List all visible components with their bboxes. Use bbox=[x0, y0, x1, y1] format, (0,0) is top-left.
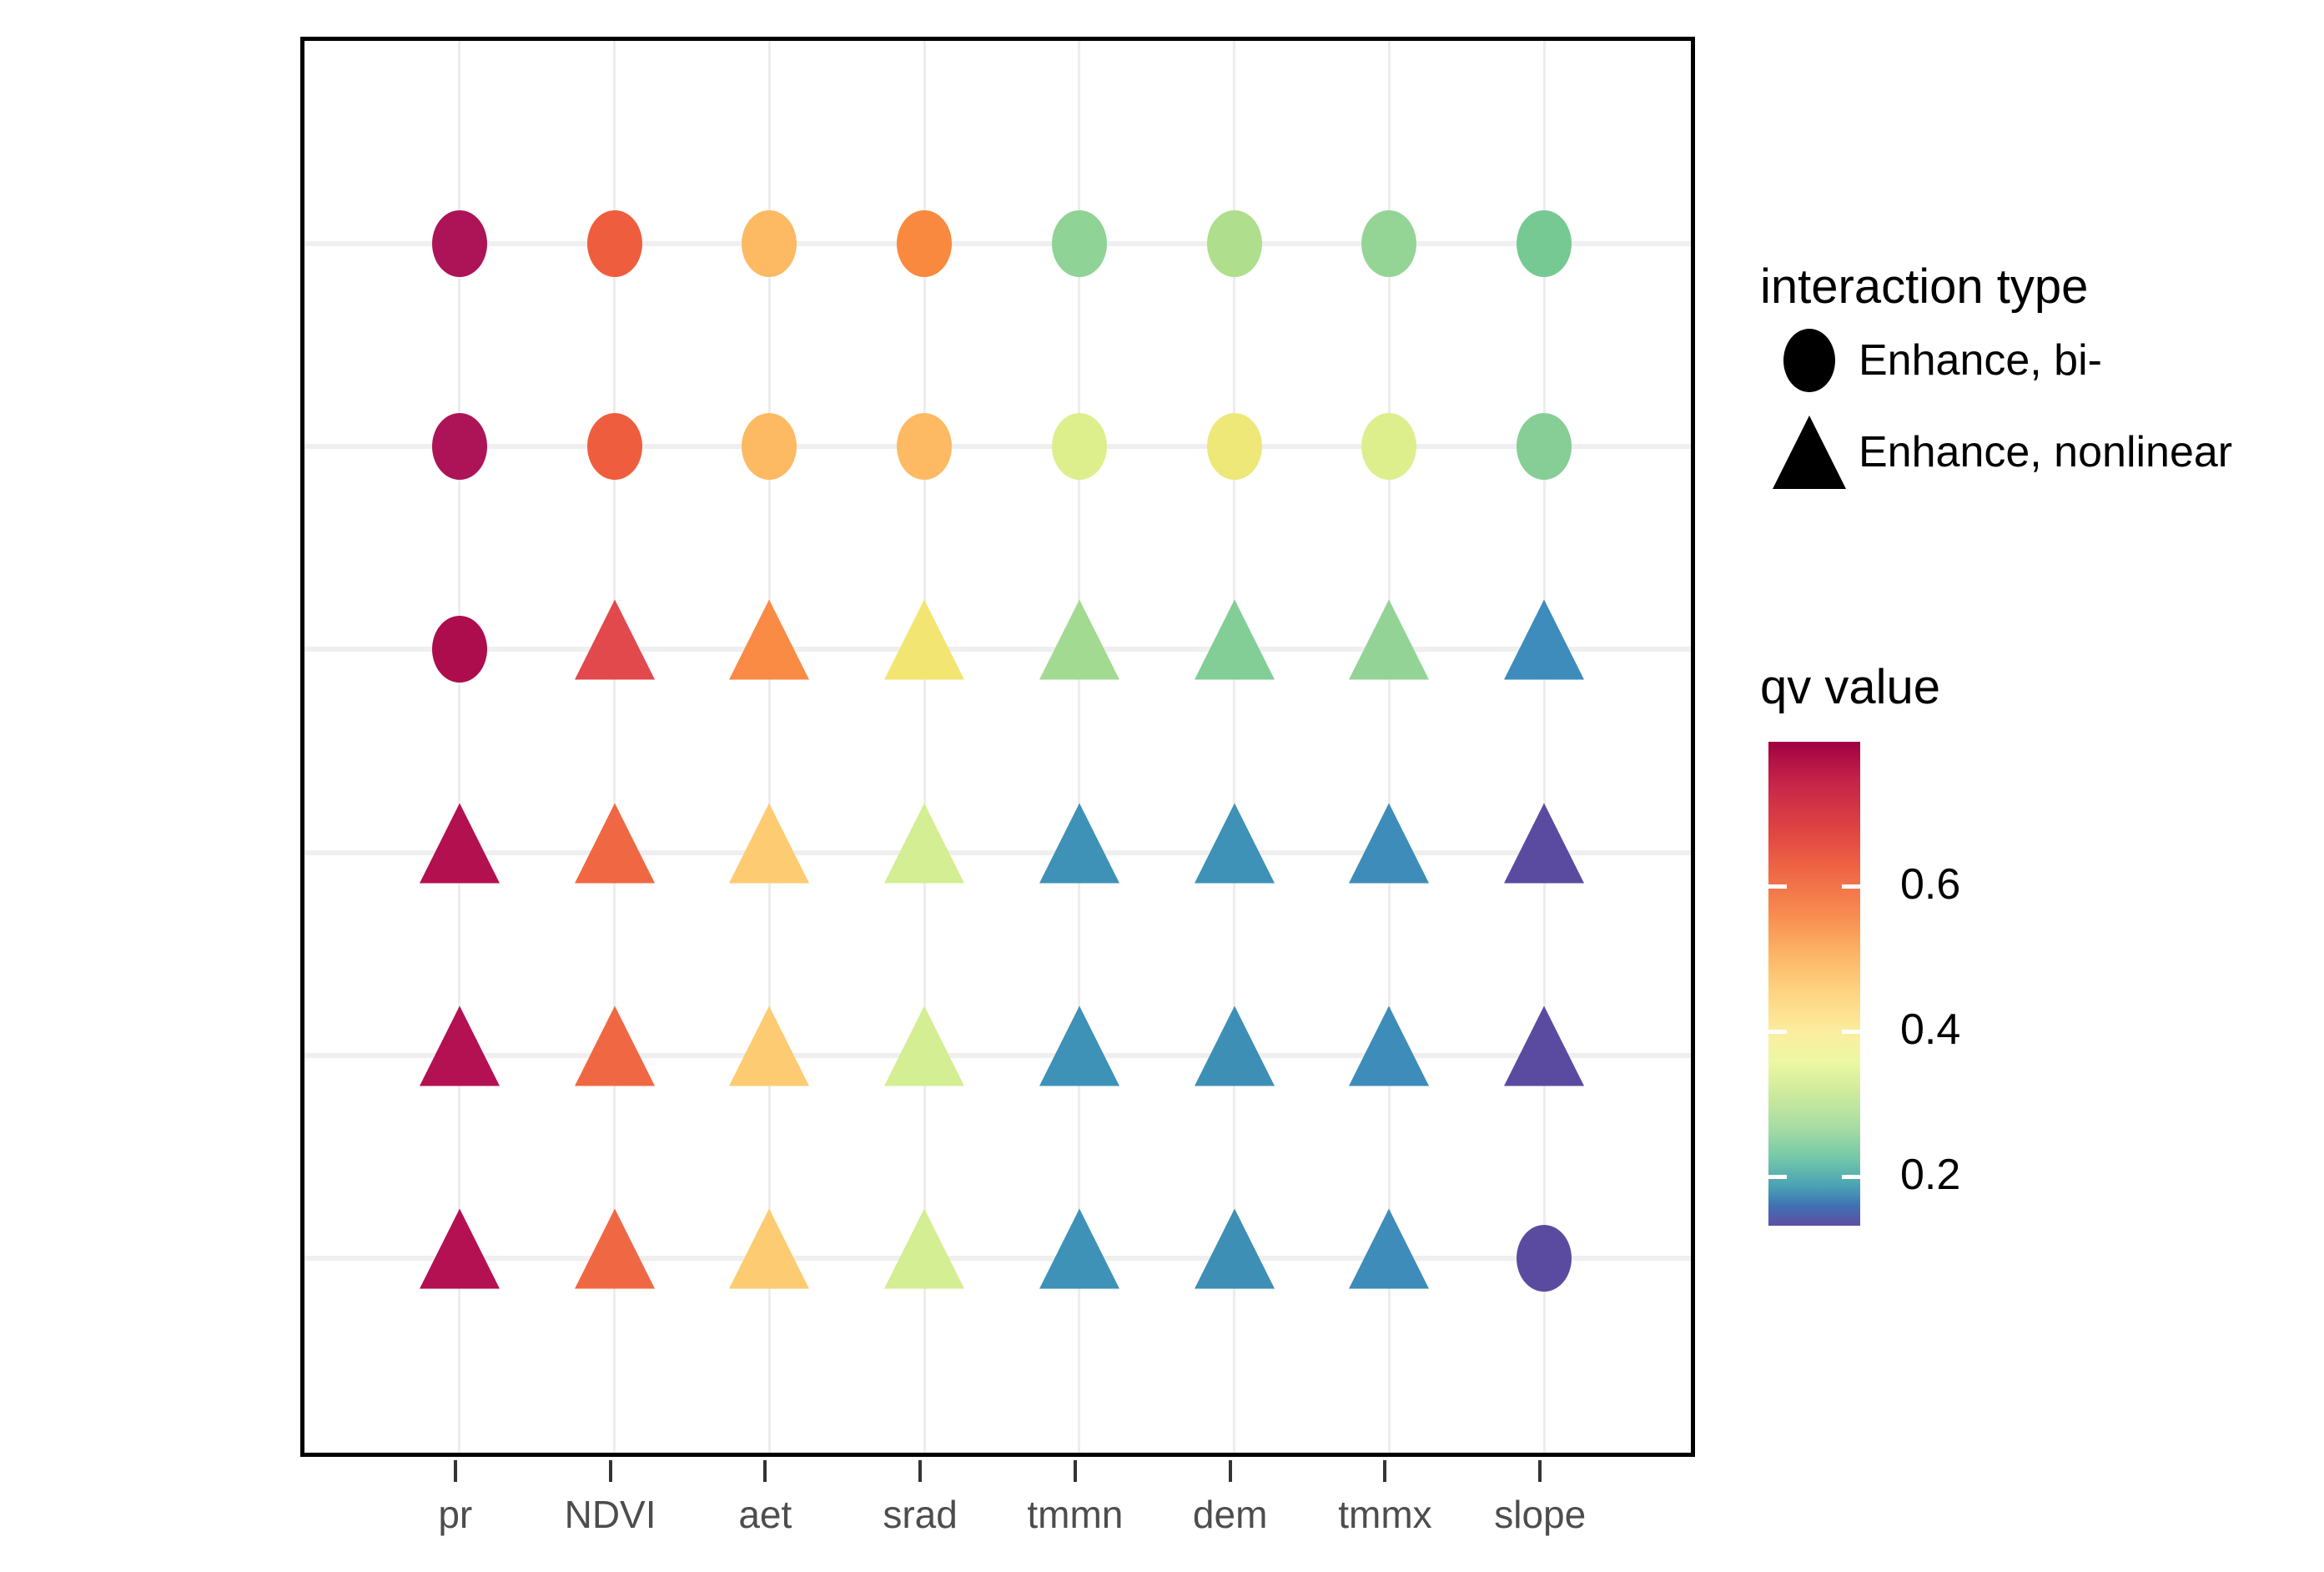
data-point-barren-srad bbox=[897, 413, 952, 480]
data-point-cropland-tmmn bbox=[1039, 1005, 1119, 1086]
shape-legend-label: Enhance, nonlinear bbox=[1859, 427, 2232, 477]
data-point-barren-tmmx bbox=[1361, 413, 1416, 480]
shape-legend: interaction type Enhance, bi-Enhance, no… bbox=[1760, 259, 2324, 498]
data-point-barren-pr bbox=[432, 413, 487, 480]
gridline-horizontal bbox=[304, 1256, 1691, 1261]
gridline-horizontal bbox=[304, 1053, 1691, 1058]
data-point-barren-aet bbox=[742, 413, 797, 480]
data-point-water-srad bbox=[884, 803, 964, 883]
x-axis-tick bbox=[918, 1460, 922, 1482]
data-point-forest-tmmx bbox=[1361, 210, 1416, 277]
data-point-grasslands-tmmn bbox=[1039, 600, 1119, 680]
data-point-cropland-NDVI bbox=[575, 1005, 655, 1086]
colorbar-tick bbox=[1842, 1175, 1860, 1179]
data-point-water-tmmx bbox=[1349, 803, 1429, 883]
colorbar-tick bbox=[1768, 884, 1787, 889]
data-point-grasslands-dem bbox=[1195, 600, 1275, 680]
data-point-barren-slope bbox=[1517, 413, 1572, 480]
data-point-water-tmmn bbox=[1039, 803, 1119, 883]
data-point-cropland-srad bbox=[884, 1005, 964, 1086]
x-axis-tick bbox=[1538, 1460, 1542, 1482]
data-point-forest-tmmn bbox=[1052, 210, 1107, 277]
x-axis-tick bbox=[609, 1460, 612, 1482]
x-axis-label-slope: slope bbox=[1494, 1492, 1586, 1537]
data-point-water-NDVI bbox=[575, 803, 655, 883]
color-legend-title: qv value bbox=[1760, 659, 2324, 715]
triangle-glyph bbox=[1773, 416, 1846, 489]
colorbar-tick bbox=[1768, 1175, 1787, 1179]
x-axis-label-dem: dem bbox=[1193, 1492, 1267, 1537]
data-point-urban-NDVI bbox=[575, 1208, 655, 1288]
data-point-grasslands-srad bbox=[884, 600, 964, 680]
x-axis-tick bbox=[1383, 1460, 1386, 1482]
colorbar-gradient bbox=[1768, 742, 1860, 1226]
data-point-forest-srad bbox=[897, 210, 952, 277]
data-point-forest-NDVI bbox=[587, 210, 642, 277]
data-point-cropland-pr bbox=[420, 1005, 500, 1086]
colorbar-tick bbox=[1842, 1030, 1860, 1034]
colorbar-wrapper: 0.60.40.2 bbox=[1760, 742, 2324, 1226]
data-point-urban-srad bbox=[884, 1208, 964, 1288]
triangle-icon bbox=[1760, 416, 1859, 489]
chart-root: forestbarrengrasslandswatercroplandurban… bbox=[0, 0, 2324, 1572]
gridline-horizontal bbox=[304, 647, 1691, 652]
x-axis-label-tmmx: tmmx bbox=[1338, 1492, 1431, 1537]
data-point-urban-pr bbox=[420, 1208, 500, 1288]
data-point-grasslands-pr bbox=[432, 616, 487, 683]
x-axis-tick bbox=[454, 1460, 457, 1482]
data-point-urban-aet bbox=[729, 1208, 809, 1288]
x-axis-label-tmmn: tmmn bbox=[1027, 1492, 1123, 1537]
data-point-cropland-slope bbox=[1504, 1005, 1584, 1086]
colorbar-tick-label-0.4: 0.4 bbox=[1900, 1005, 1960, 1055]
data-point-water-pr bbox=[420, 803, 500, 883]
data-point-barren-dem bbox=[1207, 413, 1262, 480]
colorbar-tick-label-0.2: 0.2 bbox=[1900, 1150, 1960, 1200]
shape-legend-row[interactable]: Enhance, nonlinear bbox=[1760, 406, 2324, 498]
data-point-water-slope bbox=[1504, 803, 1584, 883]
data-point-grasslands-slope bbox=[1504, 600, 1584, 680]
data-point-barren-NDVI bbox=[587, 413, 642, 480]
data-point-urban-tmmn bbox=[1039, 1208, 1119, 1288]
data-point-urban-slope bbox=[1517, 1225, 1572, 1292]
plot-panel bbox=[300, 37, 1695, 1457]
data-point-cropland-aet bbox=[729, 1005, 809, 1086]
data-point-cropland-dem bbox=[1195, 1005, 1275, 1086]
shape-legend-row[interactable]: Enhance, bi- bbox=[1760, 315, 2324, 406]
legends-column: interaction type Enhance, bi-Enhance, no… bbox=[1760, 0, 2324, 1572]
shape-legend-entries: Enhance, bi-Enhance, nonlinear bbox=[1760, 315, 2324, 498]
data-point-forest-aet bbox=[742, 210, 797, 277]
data-point-forest-slope bbox=[1517, 210, 1572, 277]
data-point-grasslands-tmmx bbox=[1349, 600, 1429, 680]
colorbar-tick-label-0.6: 0.6 bbox=[1900, 859, 1960, 909]
gridline-horizontal bbox=[304, 241, 1691, 246]
x-axis-tick bbox=[1229, 1460, 1232, 1482]
shape-legend-title: interaction type bbox=[1760, 259, 2324, 315]
data-point-forest-dem bbox=[1207, 210, 1262, 277]
circle-icon bbox=[1760, 329, 1859, 392]
data-point-grasslands-aet bbox=[729, 600, 809, 680]
circle-glyph bbox=[1783, 329, 1835, 392]
data-point-water-aet bbox=[729, 803, 809, 883]
color-legend: qv value 0.60.40.2 bbox=[1760, 659, 2324, 1226]
gridline-horizontal bbox=[304, 850, 1691, 855]
colorbar-tick bbox=[1768, 1030, 1787, 1034]
x-axis-tick bbox=[763, 1460, 767, 1482]
x-axis-label-srad: srad bbox=[883, 1492, 957, 1537]
data-point-barren-tmmn bbox=[1052, 413, 1107, 480]
x-axis-tick bbox=[1074, 1460, 1077, 1482]
data-point-grasslands-NDVI bbox=[575, 600, 655, 680]
data-point-urban-tmmx bbox=[1349, 1208, 1429, 1288]
data-point-cropland-tmmx bbox=[1349, 1005, 1429, 1086]
x-axis-label-pr: pr bbox=[438, 1492, 472, 1537]
data-point-urban-dem bbox=[1195, 1208, 1275, 1288]
x-axis-label-NDVI: NDVI bbox=[565, 1492, 656, 1537]
plot-area: forestbarrengrasslandswatercroplandurban… bbox=[0, 0, 1752, 1572]
data-point-forest-pr bbox=[432, 210, 487, 277]
gridline-horizontal bbox=[304, 444, 1691, 449]
shape-legend-label: Enhance, bi- bbox=[1859, 335, 2102, 385]
x-axis-label-aet: aet bbox=[738, 1492, 792, 1537]
colorbar-tick bbox=[1842, 884, 1860, 889]
data-point-water-dem bbox=[1195, 803, 1275, 883]
